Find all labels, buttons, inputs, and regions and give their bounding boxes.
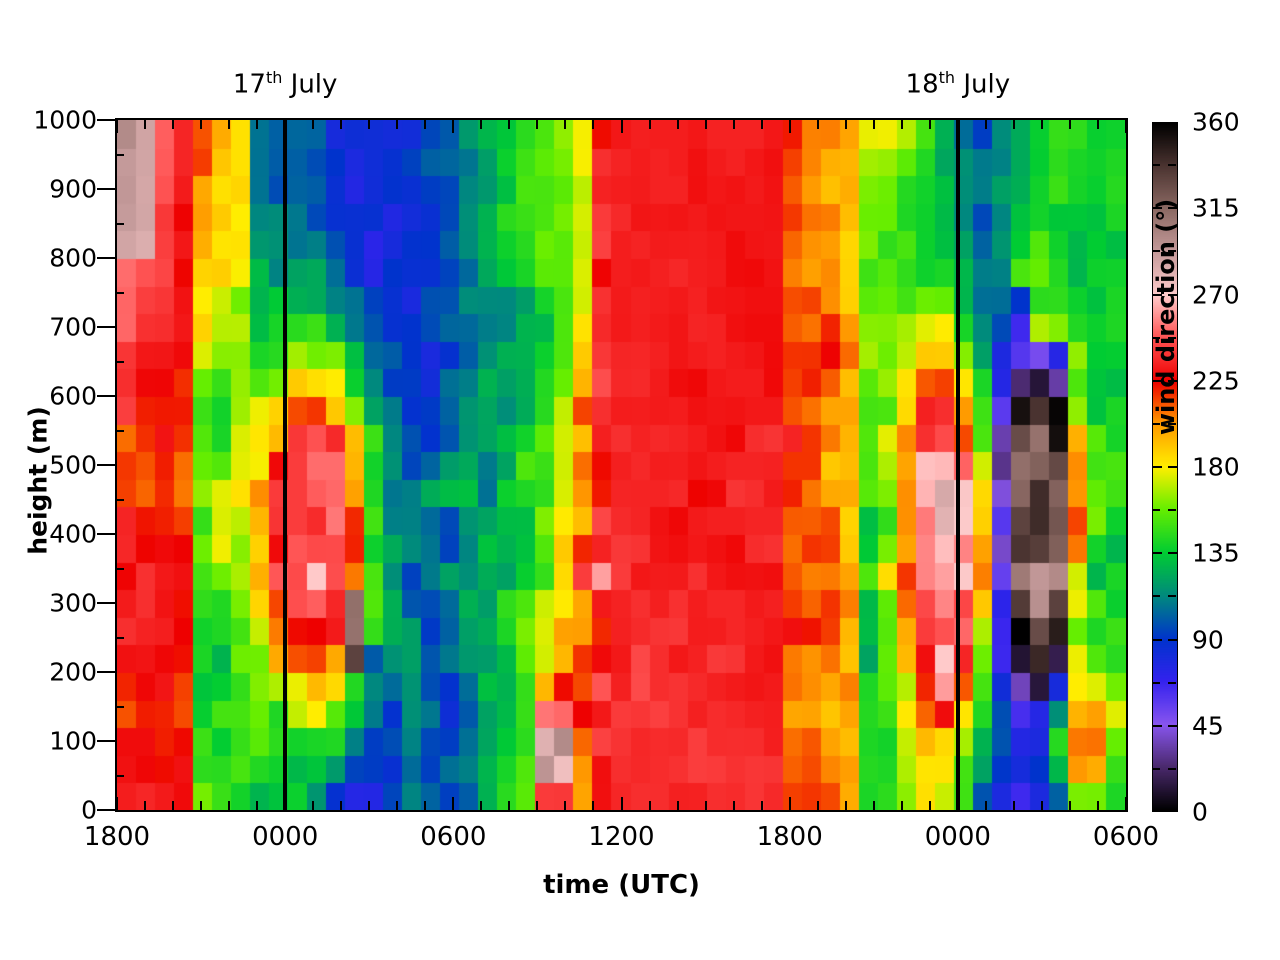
day-boundary-line [956,118,960,812]
x-tick-minor-top [1013,120,1015,129]
x-tick-minor-top [172,120,174,129]
x-tick-minor-top [424,120,426,129]
colorbar-tick [1168,552,1178,554]
x-tick-minor-top [200,120,202,129]
x-tick-minor [1013,801,1015,810]
colorbar-tick-minor [1168,509,1176,511]
colorbar-tick-label: 45 [1192,711,1224,740]
day-boundary-line [283,118,287,812]
colorbar-tick-label: 90 [1192,625,1224,654]
day-label: 17th July [233,68,338,100]
colorbar-tick-minor [1168,164,1176,166]
y-tick-major [97,119,115,121]
y-tick-major [97,809,115,811]
x-tick-minor [228,801,230,810]
x-tick-minor [817,801,819,810]
y-tick-label: 700 [0,313,97,342]
x-tick-major-top [621,120,623,133]
y-axis-title: height (m) [24,381,53,581]
x-tick-minor [733,801,735,810]
colorbar-tick [1152,552,1162,554]
x-tick-major-top [452,120,454,133]
x-tick-minor [1097,801,1099,810]
x-tick-minor [508,801,510,810]
x-tick-minor [985,801,987,810]
colorbar-tick-label: 135 [1192,539,1240,568]
x-tick-minor-top [1097,120,1099,129]
y-tick-label: 400 [0,520,97,549]
y-tick-minor [115,499,124,501]
x-tick-minor-top [985,120,987,129]
x-tick-major [452,797,454,810]
x-tick-major [116,797,118,810]
x-tick-label: 1800 [757,822,823,852]
y-tick-label: 1000 [0,106,97,135]
x-tick-minor-top [649,120,651,129]
day-label: 18th July [906,68,1011,100]
x-tick-minor [901,801,903,810]
x-tick-minor [845,801,847,810]
x-tick-minor [256,801,258,810]
x-tick-major [621,797,623,810]
x-tick-minor [929,801,931,810]
x-tick-minor-top [1069,120,1071,129]
x-tick-minor-top [733,120,735,129]
x-tick-minor-top [929,120,931,129]
x-tick-minor-top [705,120,707,129]
colorbar-tick-minor [1152,768,1160,770]
x-tick-minor [368,801,370,810]
x-tick-minor [1069,801,1071,810]
y-tick-minor [115,361,124,363]
x-tick-minor-top [256,120,258,129]
x-tick-minor-top [536,120,538,129]
y-tick-minor [115,292,124,294]
colorbar-tick-label: 270 [1192,280,1240,309]
colorbar-tick [1168,294,1178,296]
colorbar-tick [1168,207,1178,209]
colorbar-tick [1152,294,1162,296]
x-tick-minor [144,801,146,810]
colorbar-tick-minor [1152,337,1160,339]
heatmap-plot-area [115,118,1128,812]
x-tick-label: 0000 [252,822,318,852]
colorbar-tick [1168,725,1178,727]
x-tick-minor-top [677,120,679,129]
x-axis-title: time (UTC) [115,870,1128,900]
day-ordinal-suffix: th [266,68,282,87]
x-tick-label: 0000 [925,822,991,852]
y-tick-minor [115,430,124,432]
colorbar-tick-label: 180 [1192,453,1240,482]
y-tick-minor [115,775,124,777]
x-tick-minor [705,801,707,810]
y-tick-major [97,671,115,673]
x-tick-minor-top [480,120,482,129]
x-tick-minor [200,801,202,810]
x-tick-minor-top [901,120,903,129]
wind-direction-time-height-figure: height (m) time (UTC) wind direction (°)… [0,0,1280,960]
colorbar-tick [1152,639,1162,641]
x-tick-major-top [116,120,118,133]
x-tick-minor [873,801,875,810]
colorbar-tick-label: 225 [1192,366,1240,395]
x-tick-minor [172,801,174,810]
x-tick-minor-top [508,120,510,129]
day-number: 18 [906,70,939,100]
x-tick-minor [312,801,314,810]
x-tick-minor-top [144,120,146,129]
month-name: July [282,70,337,100]
x-tick-label: 0600 [420,822,486,852]
y-tick-label: 500 [0,451,97,480]
y-tick-minor [115,154,124,156]
y-tick-label: 300 [0,589,97,618]
colorbar-tick [1152,380,1162,382]
colorbar-tick [1168,466,1178,468]
colorbar-tick-label: 360 [1192,108,1240,137]
colorbar-tick-minor [1152,164,1160,166]
y-tick-major [97,533,115,535]
day-number: 17 [233,70,266,100]
y-tick-major [97,464,115,466]
colorbar-tick [1168,639,1178,641]
x-tick-major-top [789,120,791,133]
colorbar-tick-minor [1168,768,1176,770]
colorbar-tick-minor [1152,423,1160,425]
y-tick-label: 800 [0,244,97,273]
colorbar-tick-label: 0 [1192,798,1208,827]
y-tick-label: 900 [0,175,97,204]
x-tick-minor-top [873,120,875,129]
y-tick-label: 100 [0,727,97,756]
colorbar-tick-minor [1152,682,1160,684]
colorbar-tick [1152,207,1162,209]
colorbar-tick [1152,466,1162,468]
y-tick-major [97,257,115,259]
y-tick-major [97,740,115,742]
x-tick-minor-top [312,120,314,129]
y-tick-major [97,326,115,328]
colorbar-tick-minor [1168,250,1176,252]
y-tick-label: 0 [0,796,97,825]
colorbar-tick-minor [1152,250,1160,252]
y-tick-major [97,602,115,604]
day-ordinal-suffix: th [939,68,955,87]
colorbar-tick [1152,725,1162,727]
x-tick-minor-top [340,120,342,129]
x-tick-minor-top [761,120,763,129]
x-tick-major-top [1125,120,1127,133]
x-tick-minor [649,801,651,810]
colorbar-tick-minor [1168,423,1176,425]
y-tick-minor [115,223,124,225]
colorbar-tick [1168,380,1178,382]
colorbar-tick-minor [1152,595,1160,597]
y-tick-minor [115,637,124,639]
y-tick-minor [115,706,124,708]
x-tick-label: 0600 [1093,822,1159,852]
month-name: July [955,70,1010,100]
y-tick-major [97,395,115,397]
x-tick-minor-top [228,120,230,129]
x-tick-minor-top [592,120,594,129]
x-tick-minor [761,801,763,810]
colorbar-tick-label: 315 [1192,194,1240,223]
x-tick-minor [677,801,679,810]
heatmap-canvas [117,120,1126,810]
x-tick-minor [1041,801,1043,810]
x-tick-minor-top [817,120,819,129]
x-tick-minor-top [845,120,847,129]
x-tick-major [789,797,791,810]
x-tick-minor [480,801,482,810]
x-tick-minor [536,801,538,810]
y-tick-label: 200 [0,658,97,687]
x-tick-minor-top [368,120,370,129]
x-tick-label: 1200 [588,822,654,852]
x-tick-minor [564,801,566,810]
x-tick-minor [592,801,594,810]
x-tick-minor [424,801,426,810]
colorbar-tick-minor [1168,595,1176,597]
x-tick-minor-top [396,120,398,129]
y-tick-label: 600 [0,382,97,411]
y-tick-major [97,188,115,190]
y-tick-minor [115,568,124,570]
x-tick-minor-top [1041,120,1043,129]
colorbar-tick-minor [1152,509,1160,511]
x-tick-minor [396,801,398,810]
x-tick-major [1125,797,1127,810]
x-tick-minor [340,801,342,810]
colorbar-tick-minor [1168,682,1176,684]
x-tick-minor-top [564,120,566,129]
x-tick-label: 1800 [84,822,150,852]
colorbar-tick-minor [1168,337,1176,339]
